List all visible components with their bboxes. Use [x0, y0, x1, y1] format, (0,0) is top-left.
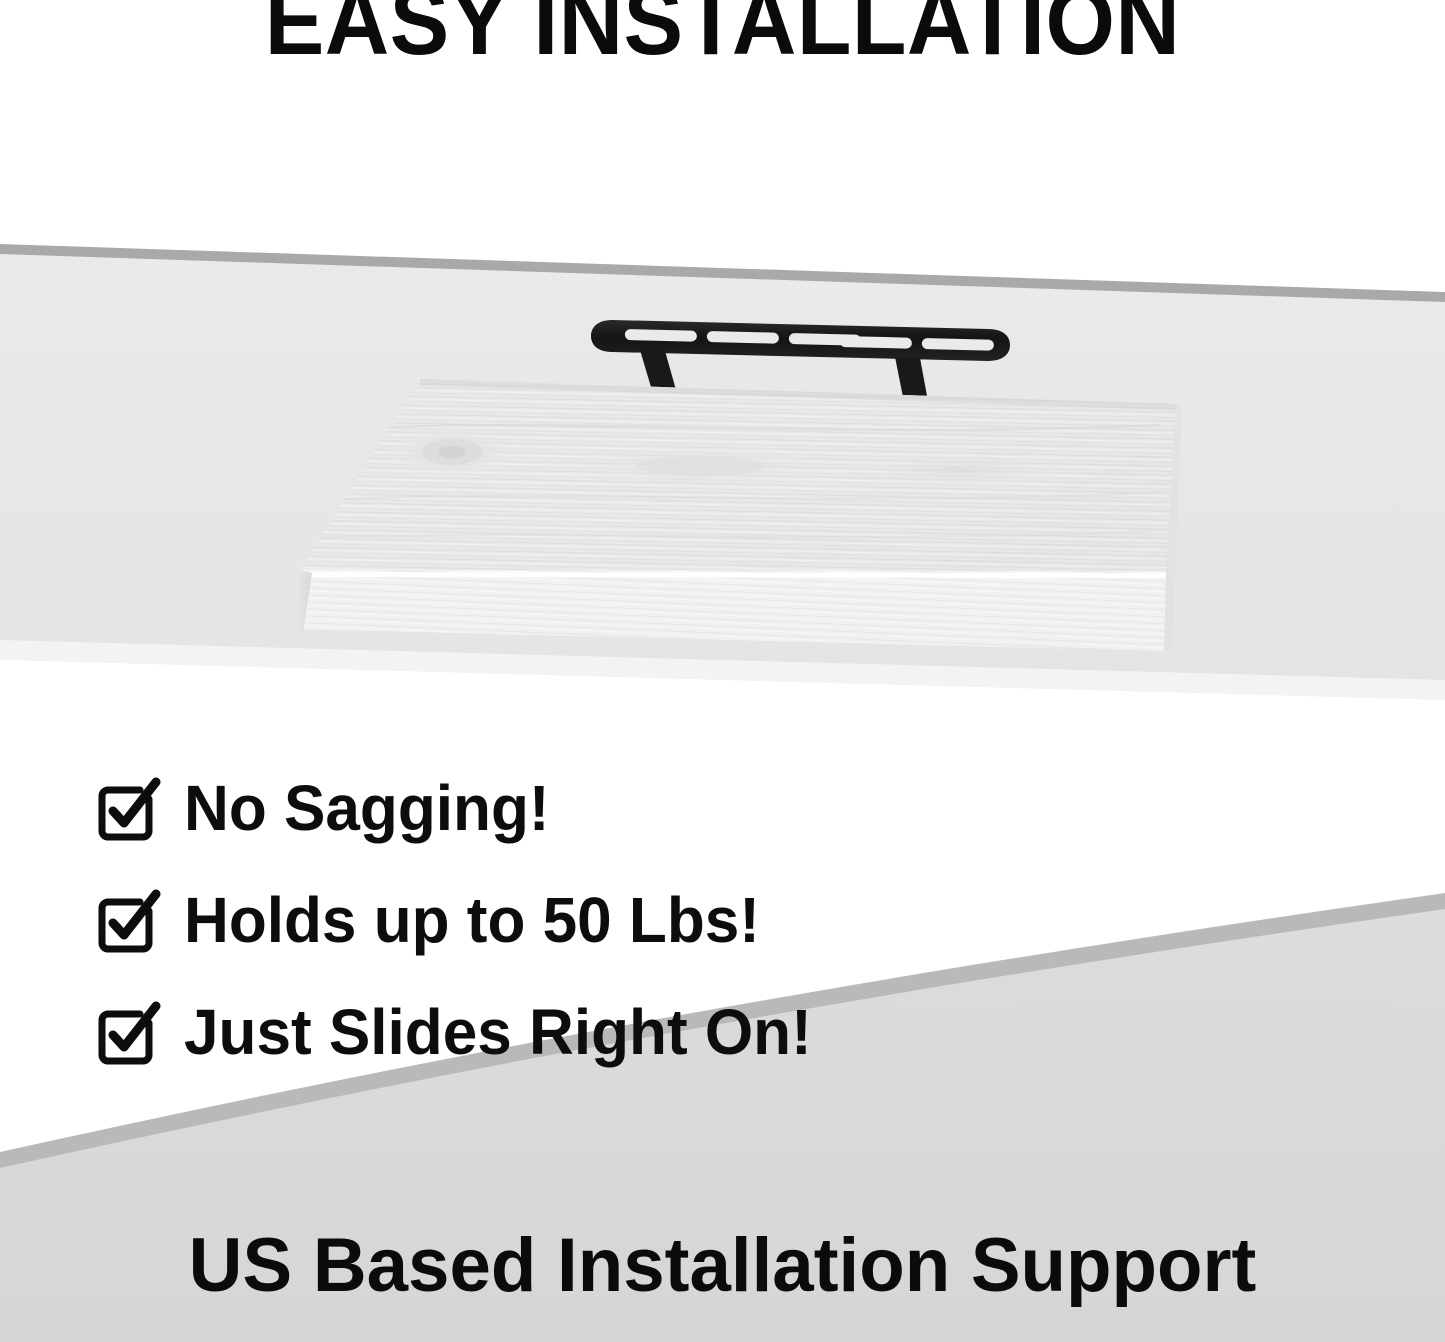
- feature-item-slides-right-on: Just Slides Right On!: [96, 976, 936, 1088]
- feature-item-no-sagging: No Sagging!: [96, 752, 936, 864]
- feature-list: No Sagging! Holds up to 50 Lbs! Just Sli…: [96, 752, 936, 1088]
- feature-label: No Sagging!: [184, 776, 550, 840]
- product-infographic: EASY INSTALLATION No Sagging! Holds up t…: [0, 0, 1445, 1342]
- feature-item-holds-50-lbs: Holds up to 50 Lbs!: [96, 864, 936, 976]
- checkbox-checked-icon: [96, 775, 162, 841]
- shelf-body: [280, 370, 1200, 660]
- page-title: EASY INSTALLATION: [51, 0, 1395, 70]
- checkbox-checked-icon: [96, 999, 162, 1065]
- checkbox-checked-icon: [96, 887, 162, 953]
- shelf-edge-highlight: [302, 572, 1166, 578]
- feature-label: Just Slides Right On!: [184, 1000, 812, 1064]
- footer-tagline: US Based Installation Support: [14, 1228, 1430, 1304]
- floating-shelf-illustration: [0, 0, 1445, 1342]
- feature-label: Holds up to 50 Lbs!: [184, 888, 760, 952]
